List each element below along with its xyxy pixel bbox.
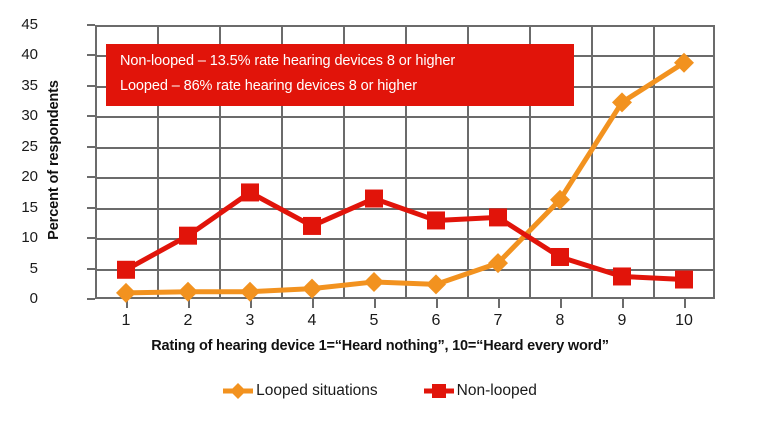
x-axis-tick-label: 8 — [540, 312, 580, 330]
y-axis-tick-label: 45 — [0, 16, 38, 33]
y-axis-tick-label: 5 — [0, 260, 38, 277]
y-axis-tick-mark — [87, 146, 95, 148]
x-axis-tick-mark — [312, 299, 314, 308]
y-axis-tick-mark — [87, 298, 95, 300]
x-axis-tick-mark — [436, 299, 438, 308]
x-axis-tick-mark — [622, 299, 624, 308]
chart-legend: Looped situations Non-looped — [0, 382, 760, 400]
x-axis-tick-mark — [250, 299, 252, 308]
legend-label: Non-looped — [457, 382, 537, 400]
x-axis-tick-mark — [188, 299, 190, 308]
annotation-line-2: Looped – 86% rate hearing devices 8 or h… — [120, 74, 574, 99]
y-axis-tick-mark — [87, 115, 95, 117]
y-axis-tick-mark — [87, 24, 95, 26]
x-axis-tick-mark — [374, 299, 376, 308]
y-axis-tick-label: 10 — [0, 229, 38, 246]
x-axis-tick-label: 3 — [230, 312, 270, 330]
y-axis-tick-mark — [87, 85, 95, 87]
x-axis-tick-label: 10 — [664, 312, 704, 330]
y-axis-tick-mark — [87, 268, 95, 270]
y-axis-tick-mark — [87, 237, 95, 239]
y-axis-tick-label: 35 — [0, 77, 38, 94]
y-axis-tick-label: 20 — [0, 168, 38, 185]
x-axis-tick-label: 1 — [106, 312, 146, 330]
x-axis-tick-label: 2 — [168, 312, 208, 330]
y-axis-tick-mark — [87, 54, 95, 56]
annotation-line-1: Non-looped – 13.5% rate hearing devices … — [120, 49, 574, 74]
diamond-marker-icon — [223, 382, 253, 400]
x-axis-tick-mark — [126, 299, 128, 308]
x-axis-tick-label: 9 — [602, 312, 642, 330]
y-axis-tick-mark — [87, 207, 95, 209]
square-marker-icon — [424, 382, 454, 400]
x-axis-tick-label: 6 — [416, 312, 456, 330]
legend-item-non-looped[interactable]: Non-looped — [424, 382, 537, 400]
chart-root: Percent of respondents 05101520253035404… — [0, 0, 760, 433]
x-axis-tick-label: 7 — [478, 312, 518, 330]
y-axis-tick-label: 0 — [0, 290, 38, 307]
y-axis-tick-mark — [87, 176, 95, 178]
x-axis-tick-mark — [560, 299, 562, 308]
x-axis-tick-mark — [684, 299, 686, 308]
y-axis-title: Percent of respondents — [46, 10, 62, 310]
y-axis-tick-label: 30 — [0, 107, 38, 124]
annotation-box: Non-looped – 13.5% rate hearing devices … — [106, 44, 574, 106]
x-axis-tick-label: 4 — [292, 312, 332, 330]
x-axis-title: Rating of hearing device 1=“Heard nothin… — [0, 338, 760, 354]
vertical-gridline — [591, 27, 593, 297]
vertical-gridline — [653, 27, 655, 297]
legend-item-looped-situations[interactable]: Looped situations — [223, 382, 378, 400]
y-axis-tick-label: 25 — [0, 138, 38, 155]
y-axis-tick-label: 15 — [0, 199, 38, 216]
x-axis-tick-label: 5 — [354, 312, 394, 330]
legend-label: Looped situations — [256, 382, 378, 400]
x-axis-tick-mark — [498, 299, 500, 308]
y-axis-tick-label: 40 — [0, 46, 38, 63]
